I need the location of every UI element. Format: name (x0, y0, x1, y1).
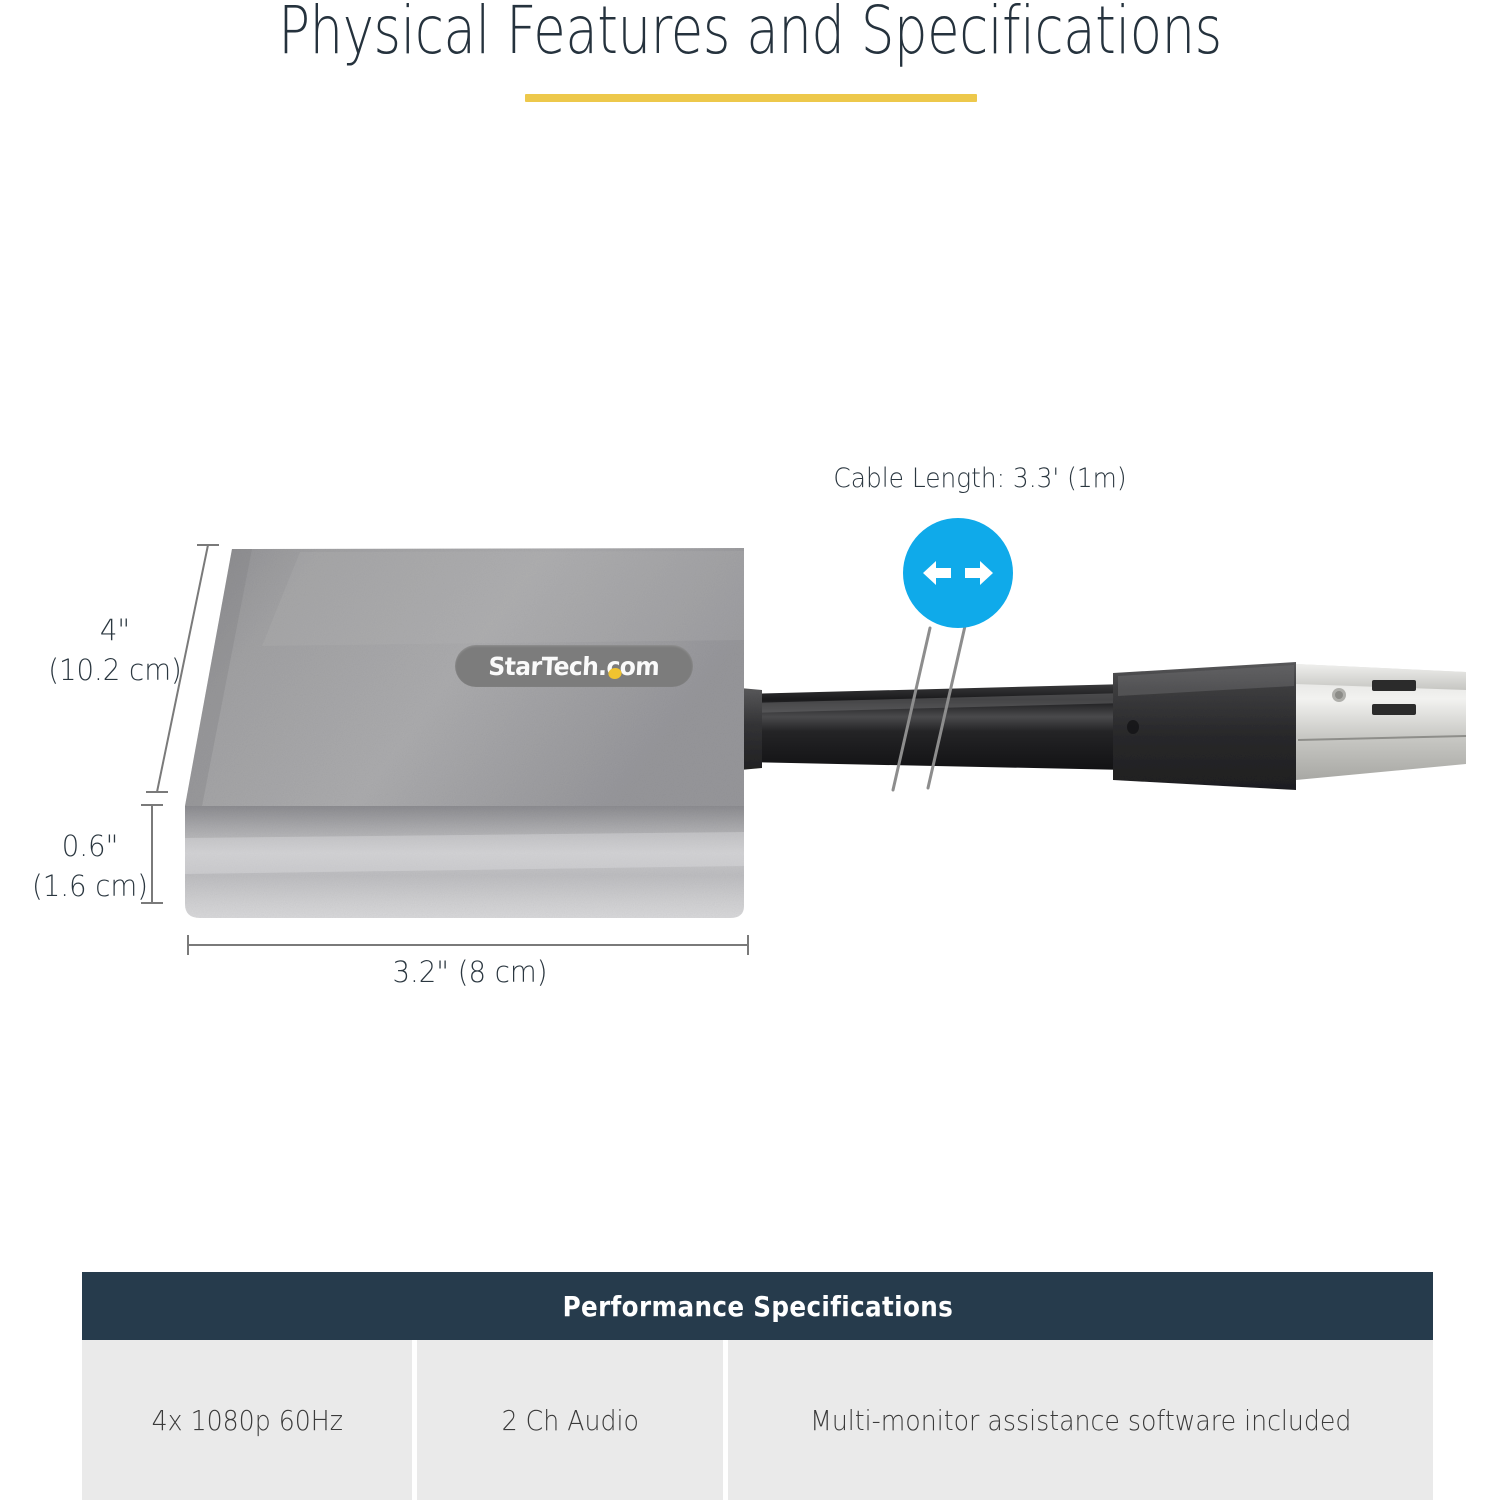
device-cable (718, 684, 1128, 772)
spec-cell-audio: 2 Ch Audio (417, 1340, 723, 1500)
spec-table-header: Performance Specifications (82, 1272, 1433, 1340)
cable-length-label: Cable Length: 3.3' (1m) (778, 463, 1183, 494)
spec-table-header-text: Performance Specifications (562, 1290, 953, 1323)
dimension-label-width: 3.2" (8 cm) (204, 955, 736, 989)
spec-table-body: 4x 1080p 60Hz 2 Ch Audio Multi-monitor a… (82, 1340, 1433, 1500)
spec-cell-audio-text: 2 Ch Audio (501, 1404, 638, 1437)
cable-break-marks (893, 626, 965, 790)
usb-a-connector (1113, 662, 1466, 790)
dimension-height-inches: 4" (25, 610, 206, 650)
dimension-label-depth: 0.6" (1.6 cm) (19, 826, 162, 906)
device-brand-logo: StarTech.com (455, 645, 693, 687)
dimension-label-height: 4" (10.2 cm) (25, 610, 206, 690)
spec-cell-software-text: Multi-monitor assistance software includ… (810, 1404, 1351, 1437)
dimension-height-metric: (10.2 cm) (25, 650, 206, 690)
product-spec-page: Physical Features and Specifications (0, 0, 1500, 1500)
spec-cell-software: Multi-monitor assistance software includ… (728, 1340, 1433, 1500)
spec-cell-resolution-text: 4x 1080p 60Hz (151, 1404, 342, 1437)
double-arrow-horizontal-icon (903, 518, 1013, 628)
dimension-depth-metric: (1.6 cm) (19, 866, 162, 906)
device-brand-logo-text: StarTech.com (488, 652, 660, 681)
title-accent-underline (525, 94, 977, 102)
logo-accent-dot (608, 668, 622, 679)
performance-specifications-table: Performance Specifications 4x 1080p 60Hz… (82, 1272, 1433, 1500)
dimension-lines (141, 545, 748, 955)
page-title: Physical Features and Specifications (150, 0, 1350, 69)
spec-cell-resolution: 4x 1080p 60Hz (82, 1340, 412, 1500)
dimension-depth-inches: 0.6" (19, 826, 162, 866)
device-enclosure (185, 548, 744, 918)
